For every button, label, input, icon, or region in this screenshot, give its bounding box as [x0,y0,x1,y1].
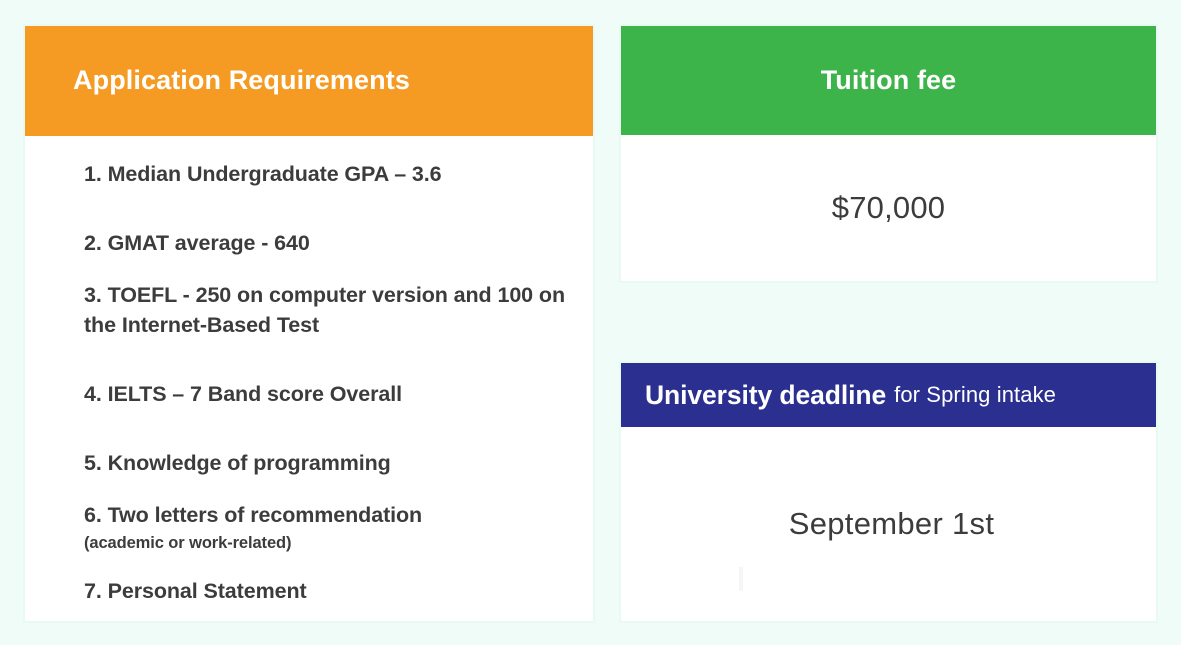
requirement-item-7: 7. Personal Statement [84,577,567,606]
university-deadline-value: September 1st [789,506,995,542]
application-requirements-card: Application Requirements 1. Median Under… [24,25,594,622]
requirements-list: 1. Median Undergraduate GPA – 3.6 2. GMA… [25,136,593,606]
faint-artifact-mark [739,567,743,591]
tuition-fee-value: $70,000 [832,190,945,226]
requirement-item-2-text: 2. GMAT average - 640 [84,231,310,255]
requirement-item-5: 5. Knowledge of programming [84,449,567,478]
requirement-item-3-text: 3. TOEFL - 250 on computer version and 1… [84,283,565,336]
spacer [84,258,567,281]
requirement-item-6-text: 6. Two letters of recommendation [84,503,422,527]
requirement-item-7-text: 7. Personal Statement [84,579,307,603]
university-deadline-card: University deadline for Spring intake Se… [620,362,1157,622]
tuition-fee-header: Tuition fee [621,26,1156,135]
spacer [84,189,567,229]
infographic-board: Application Requirements 1. Median Under… [0,0,1181,645]
tuition-fee-title: Tuition fee [821,65,957,96]
requirement-item-1: 1. Median Undergraduate GPA – 3.6 [84,160,567,189]
requirement-item-1-text: 1. Median Undergraduate GPA – 3.6 [84,162,442,186]
university-deadline-subtitle: for Spring intake [894,382,1056,408]
requirement-item-5-text: 5. Knowledge of programming [84,451,391,475]
requirement-item-3: 3. TOEFL - 250 on computer version and 1… [84,281,567,339]
spacer [84,478,567,501]
application-requirements-title: Application Requirements [73,66,410,96]
application-requirements-header: Application Requirements [25,26,593,136]
requirement-item-2: 2. GMAT average - 640 [84,229,567,258]
requirement-item-4: 4. IELTS – 7 Band score Overall [84,380,567,409]
university-deadline-body: September 1st [621,427,1156,621]
spacer [84,340,567,380]
requirement-item-6: 6. Two letters of recommendation (academ… [84,501,567,554]
tuition-fee-body: $70,000 [621,135,1156,281]
university-deadline-title: University deadline [645,380,886,411]
requirement-item-4-text: 4. IELTS – 7 Band score Overall [84,382,402,406]
university-deadline-header: University deadline for Spring intake [621,363,1156,427]
requirement-item-6-note: (academic or work-related) [84,533,567,554]
spacer [84,409,567,449]
spacer [84,554,567,577]
tuition-fee-card: Tuition fee $70,000 [620,25,1157,282]
